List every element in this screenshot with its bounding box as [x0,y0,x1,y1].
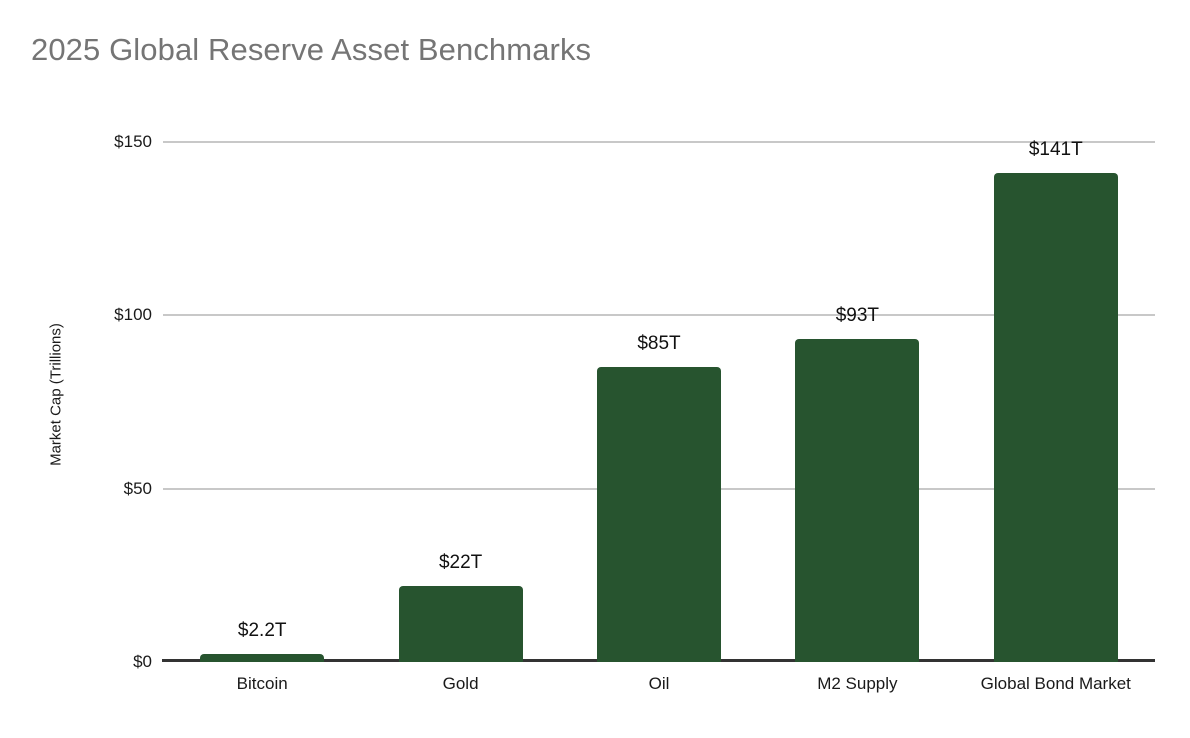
bar[interactable] [795,339,919,662]
x-category-label: Oil [560,674,758,694]
bar[interactable] [597,367,721,662]
bar-value-label: $22T [359,552,563,574]
y-tick-label: $150 [0,132,152,152]
x-category-label: Bitcoin [163,674,361,694]
bar-value-label: $2.2T [160,620,364,642]
x-category-label: M2 Supply [758,674,956,694]
plot-area: $2.2T$22T$85T$93T$141T [163,100,1155,662]
x-category-label: Gold [361,674,559,694]
bar[interactable] [200,654,324,662]
y-tick-label: $0 [0,652,152,672]
y-axis-tick-labels: $0$50$100$150 [0,100,152,662]
bar-value-label: $141T [954,139,1158,161]
chart-title: 2025 Global Reserve Asset Benchmarks [31,32,591,68]
y-tick-label: $100 [0,305,152,325]
bar[interactable] [994,173,1118,662]
bar[interactable] [399,586,523,662]
x-category-label: Global Bond Market [957,674,1155,694]
y-tick-label: $50 [0,479,152,499]
bar-value-label: $93T [755,305,959,327]
bar-value-label: $85T [557,333,761,355]
bar-chart: 2025 Global Reserve Asset Benchmarks Mar… [0,0,1190,738]
